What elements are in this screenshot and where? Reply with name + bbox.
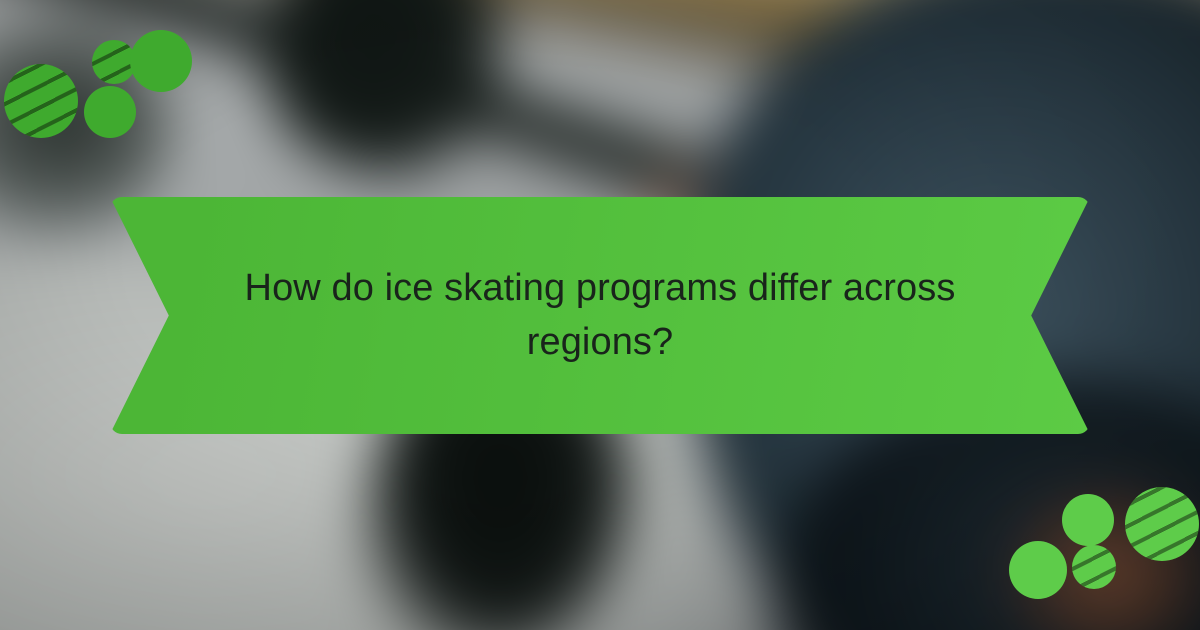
circle-plain-large xyxy=(1062,494,1114,546)
circle-striped-small xyxy=(1072,545,1116,589)
circle-striped-large xyxy=(4,64,78,138)
circle-plain-small xyxy=(84,86,136,138)
circle-striped-large xyxy=(1125,487,1199,561)
circle-plain-small xyxy=(1009,541,1067,599)
question-card: How do ice skating programs differ acros… xyxy=(0,0,1200,630)
circle-plain-large xyxy=(130,30,192,92)
question-banner: How do ice skating programs differ acros… xyxy=(110,197,1090,434)
question-text: How do ice skating programs differ acros… xyxy=(235,262,965,370)
